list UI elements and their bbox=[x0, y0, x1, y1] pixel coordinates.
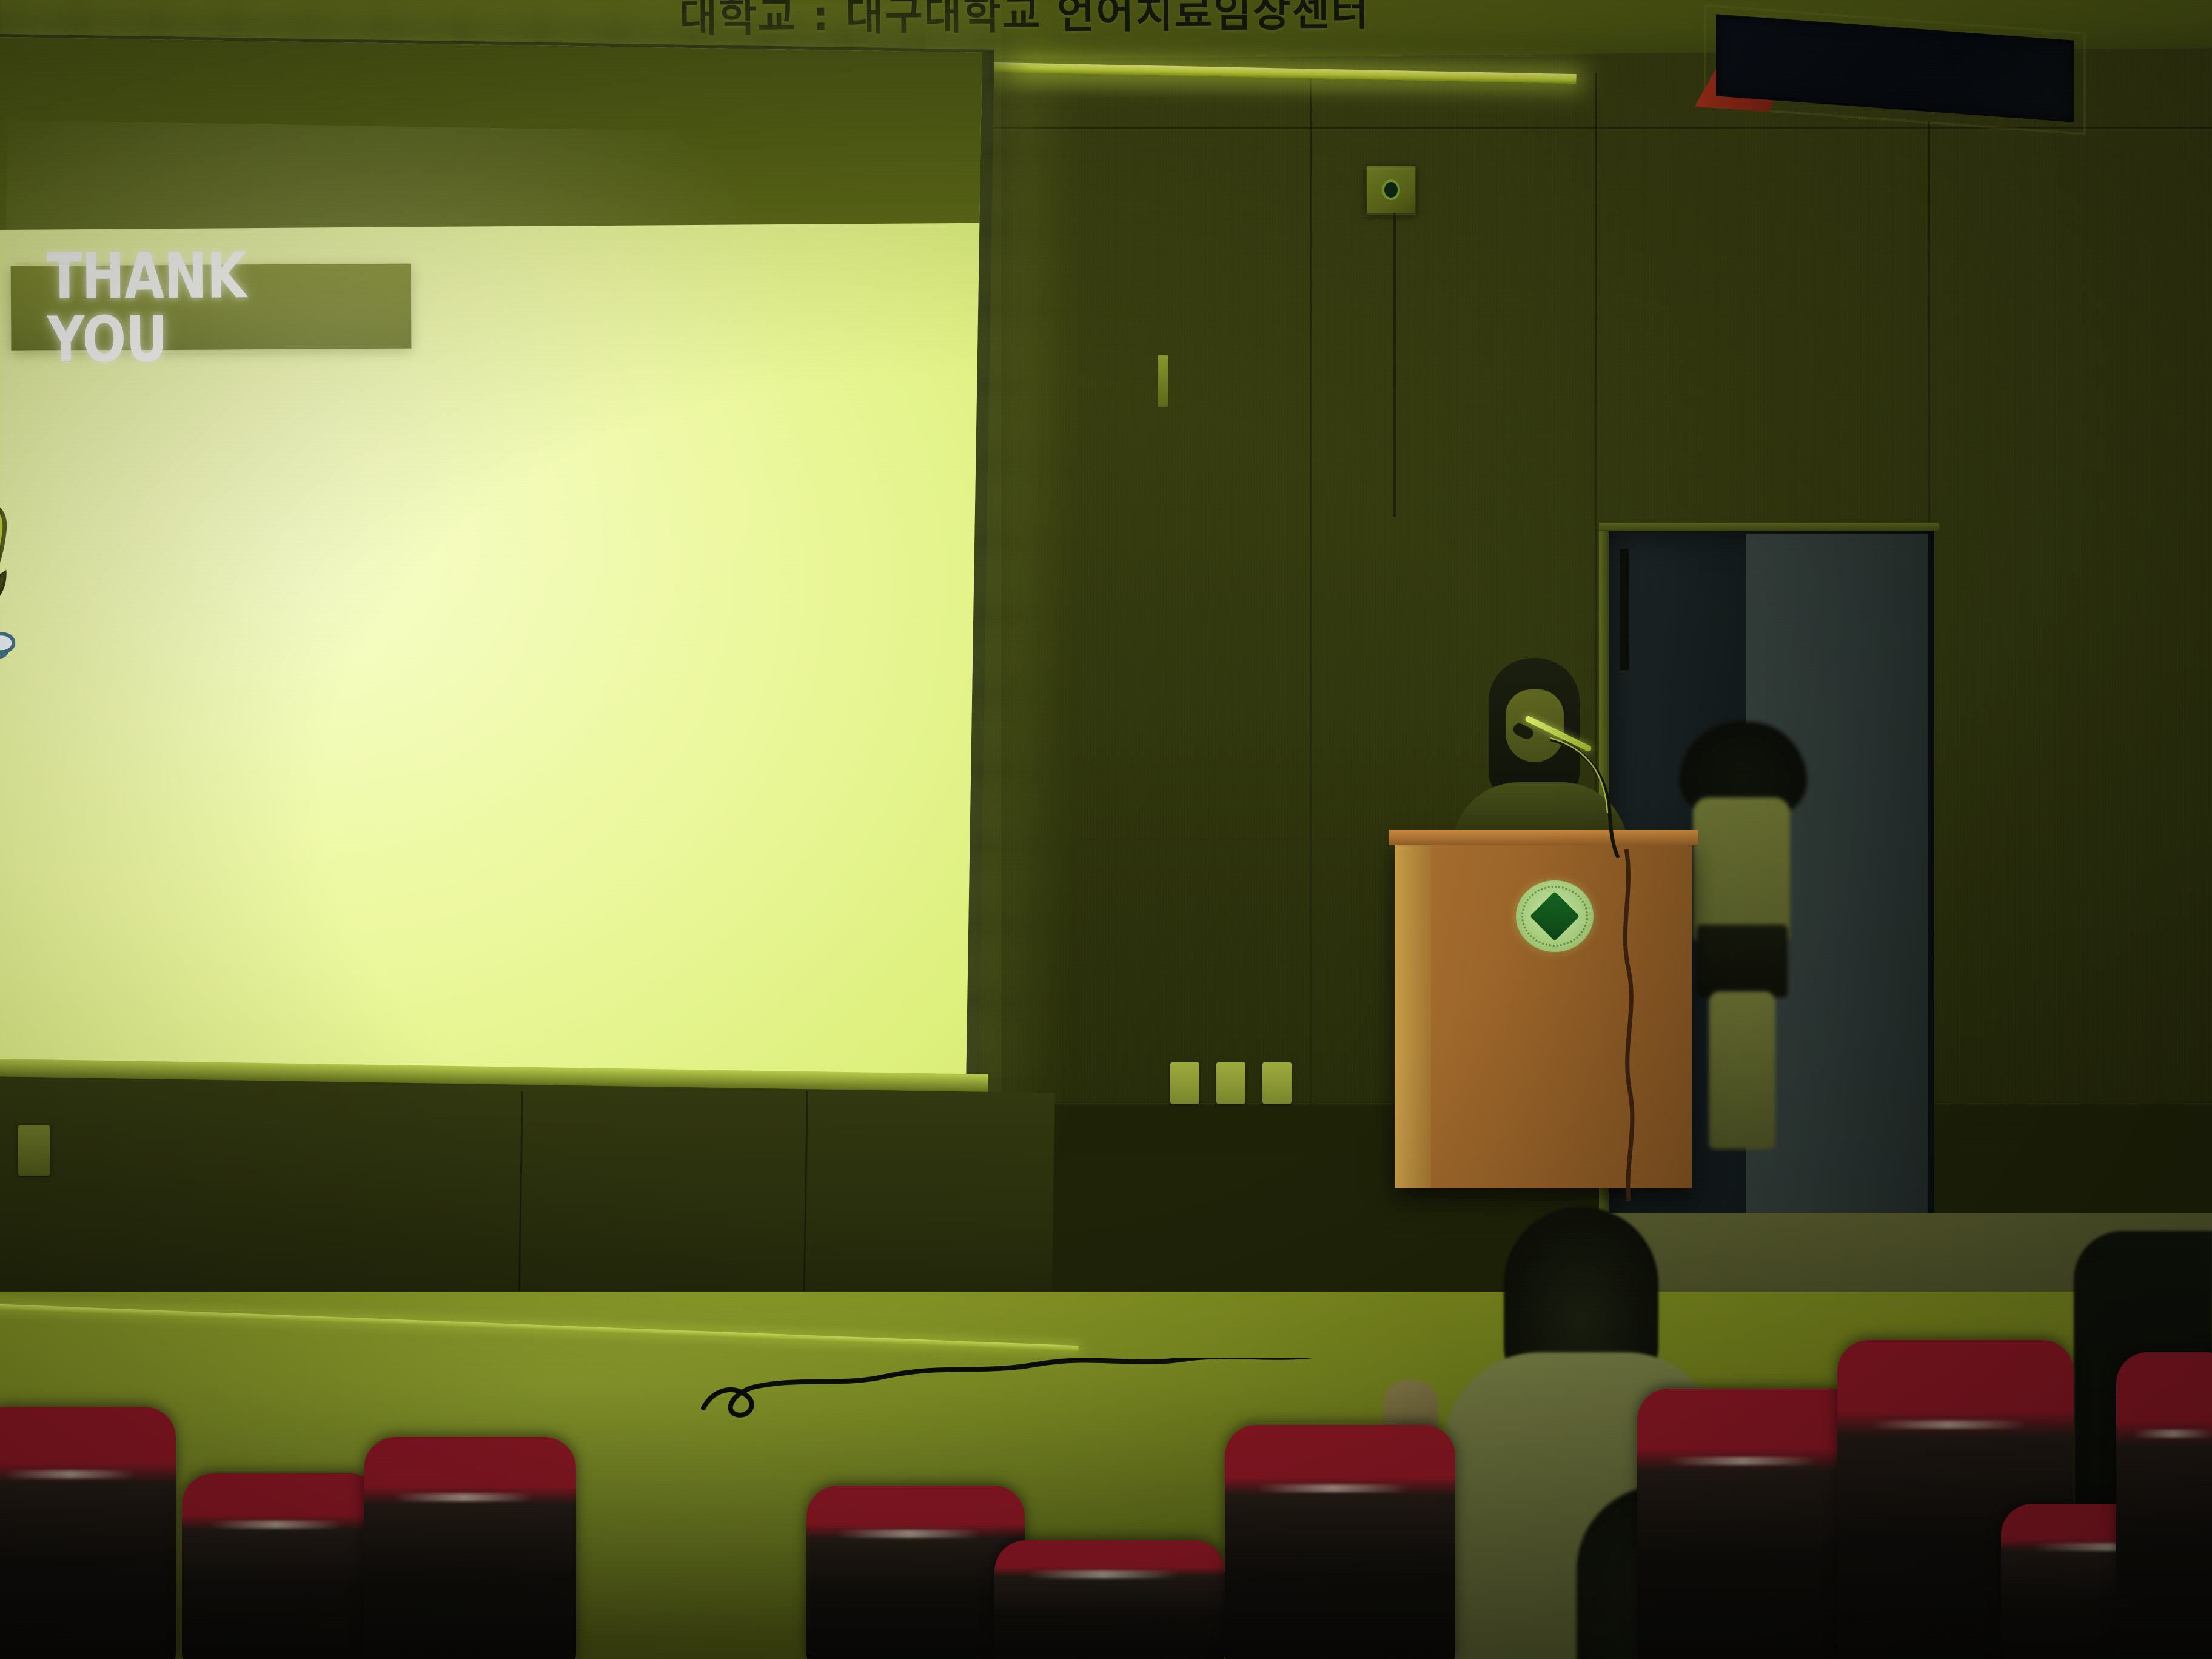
standing-person-legs bbox=[1709, 991, 1775, 1149]
seat-row-front-1[interactable] bbox=[0, 1407, 176, 1659]
seat-row-right-2[interactable] bbox=[2116, 1352, 2212, 1659]
university-crest-emblem bbox=[1516, 880, 1594, 952]
projection-screen: THANK YOU bbox=[0, 36, 982, 1089]
door-handle-strip bbox=[1158, 355, 1168, 407]
seat-row-mid-2[interactable] bbox=[1637, 1389, 1862, 1659]
speaker-cone bbox=[1382, 179, 1400, 200]
seat-row-front-2[interactable] bbox=[182, 1473, 382, 1659]
wall-outlet bbox=[1262, 1062, 1292, 1104]
auditorium-photo: 대학교 : 대구대학교 언어치료임상센터 bbox=[0, 0, 2212, 1659]
slide-title-bar: THANK YOU bbox=[11, 264, 412, 351]
slide-top-band bbox=[0, 36, 982, 230]
seat-row-front-3[interactable] bbox=[364, 1437, 576, 1659]
seat-row-front-4[interactable] bbox=[806, 1486, 1025, 1659]
seat-row-mid-1[interactable] bbox=[1225, 1425, 1455, 1659]
wall-outlet bbox=[1216, 1062, 1245, 1104]
door-header bbox=[1599, 523, 1939, 531]
speaker-conduit bbox=[1393, 213, 1396, 517]
podium-left-face bbox=[1395, 837, 1431, 1188]
standing-person-skirt bbox=[1697, 925, 1788, 997]
slide-title-text: THANK YOU bbox=[47, 264, 375, 350]
banner-title: 대학교 : 대구대학교 언어치료임상센터 bbox=[679, 0, 1370, 44]
wall-speaker-icon bbox=[1366, 165, 1416, 215]
wall-outlet-group bbox=[1170, 1062, 1292, 1104]
wall-seam bbox=[1310, 73, 1312, 1104]
presenter bbox=[1452, 658, 1628, 846]
standing-person-torso bbox=[1693, 797, 1790, 943]
wall-outlet bbox=[18, 1125, 50, 1176]
seat-row-front-5[interactable] bbox=[994, 1540, 1225, 1659]
wall-outlet bbox=[1170, 1062, 1199, 1104]
podium-top-surface bbox=[1389, 829, 1698, 845]
door-hardware bbox=[1620, 549, 1629, 670]
